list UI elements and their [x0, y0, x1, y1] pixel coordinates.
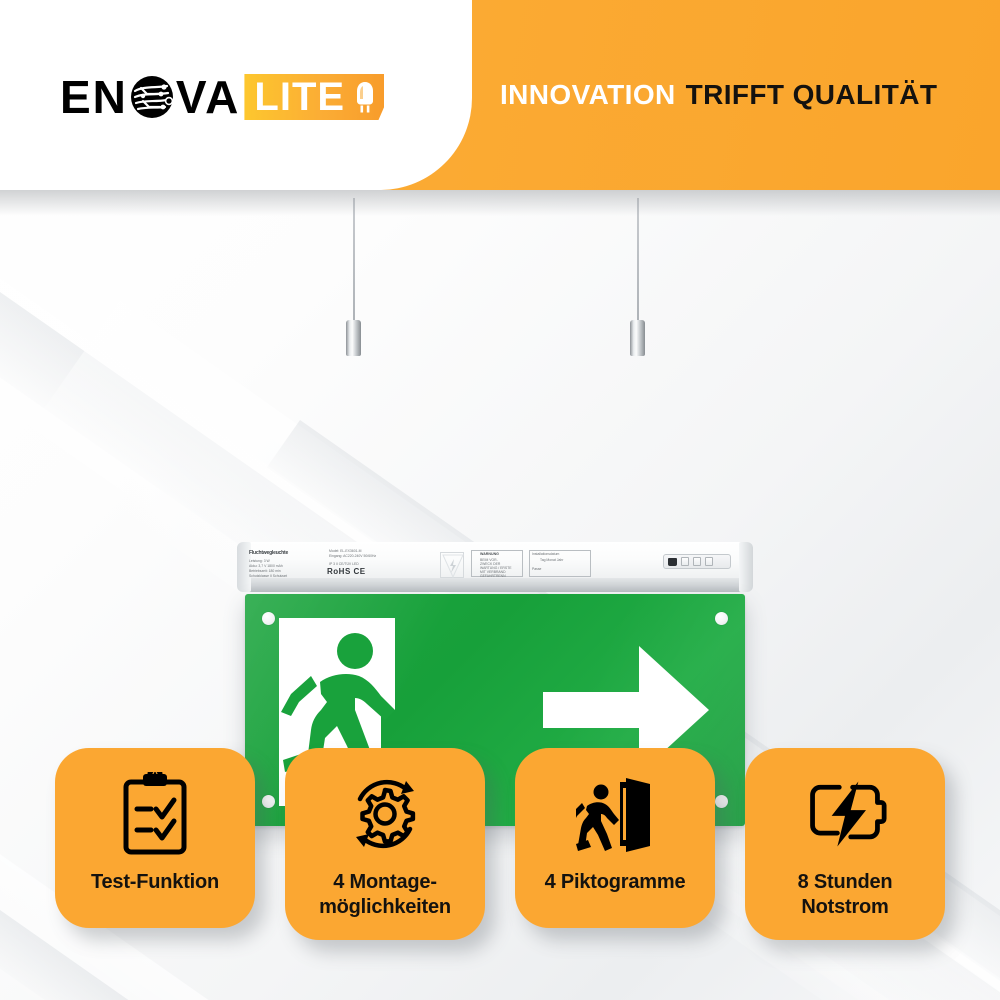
indicator-led-1 — [681, 557, 689, 566]
indicator-led-2 — [693, 557, 701, 566]
electrical-hazard-icon — [440, 552, 464, 578]
logo-text: EN — [60, 74, 240, 120]
brand-logo[interactable]: EN — [60, 70, 384, 124]
feature-card-notstrom[interactable]: 8 StundenNotstrom — [745, 748, 945, 940]
logo-lite-label: LITE — [254, 77, 345, 117]
label-warning-title: WARNUNG — [480, 552, 522, 556]
label-install-date-box: Installationsdatum Tag Monat Jahr Passe — [529, 550, 591, 577]
label-certification-marks: RoHS CE — [327, 567, 366, 576]
logo-lite-badge: LITE — [244, 74, 384, 120]
clipboard-checklist-icon — [113, 774, 197, 854]
feature-card-row: Test-Funktion 4 Montage-möglichke — [0, 748, 1000, 948]
product-marketing-image: EN — [0, 0, 1000, 1000]
product-label: Fluchtwegleuchte Leistung: 3 W Akku: 3,7… — [247, 546, 627, 576]
logo-text-va: VA — [176, 74, 241, 120]
header-tagline: INNOVATION TRIFFT QUALITÄT — [500, 0, 937, 190]
label-spec-col2-1: Eingang: AC220-240V 50/60Hz — [329, 554, 376, 559]
indicator-led-3 — [705, 557, 713, 566]
tagline-rest: TRIFFT QUALITÄT — [686, 79, 938, 111]
status-indicator-panel[interactable] — [663, 554, 731, 569]
circuit-globe-icon — [129, 74, 175, 120]
feature-label: Test-Funktion — [91, 870, 219, 895]
running-man-door-icon — [573, 774, 657, 854]
feature-card-test-funktion[interactable]: Test-Funktion — [55, 748, 255, 928]
feature-label: 8 StundenNotstrom — [798, 870, 893, 920]
label-warning-line-4: GEFAHRTRENN — [480, 574, 506, 579]
gear-rotation-icon — [343, 774, 427, 854]
led-bulb-icon — [354, 80, 376, 114]
battery-lightning-icon — [803, 774, 887, 854]
header-shadow — [0, 190, 1000, 216]
label-install-row: Passe — [532, 567, 541, 572]
housing-bevel — [239, 578, 751, 592]
header-banner: EN — [0, 0, 1000, 190]
label-install-title: Installationsdatum — [532, 552, 559, 557]
tagline-highlight: INNOVATION — [500, 79, 676, 111]
housing-end-cap-right — [739, 542, 753, 592]
wire-ferrule-left — [346, 320, 361, 356]
test-button[interactable] — [668, 558, 677, 566]
feature-card-montage[interactable]: 4 Montage-möglichkeiten — [285, 748, 485, 940]
mounting-screw-top-right — [715, 612, 728, 625]
label-warning-box: WARNUNG BEIM VOR- ZWECK DER WARTUNG / ER… — [471, 550, 523, 577]
feature-label: 4 Montage-möglichkeiten — [319, 870, 451, 920]
feature-label: 4 Piktogramme — [545, 870, 686, 895]
luminaire-housing: Fluchtwegleuchte Leistung: 3 W Akku: 3,7… — [237, 542, 753, 594]
label-install-columns: Tag Monat Jahr — [540, 558, 563, 563]
label-title: Fluchtwegleuchte — [249, 550, 288, 558]
feature-card-piktogramme[interactable]: 4 Piktogramme — [515, 748, 715, 928]
logo-text-en: EN — [60, 74, 128, 120]
label-spec-col1-3: Schutzklasse II Schutzart — [249, 574, 287, 579]
wire-ferrule-right — [630, 320, 645, 356]
product-photo: Fluchtwegleuchte Leistung: 3 W Akku: 3,7… — [0, 190, 1000, 730]
